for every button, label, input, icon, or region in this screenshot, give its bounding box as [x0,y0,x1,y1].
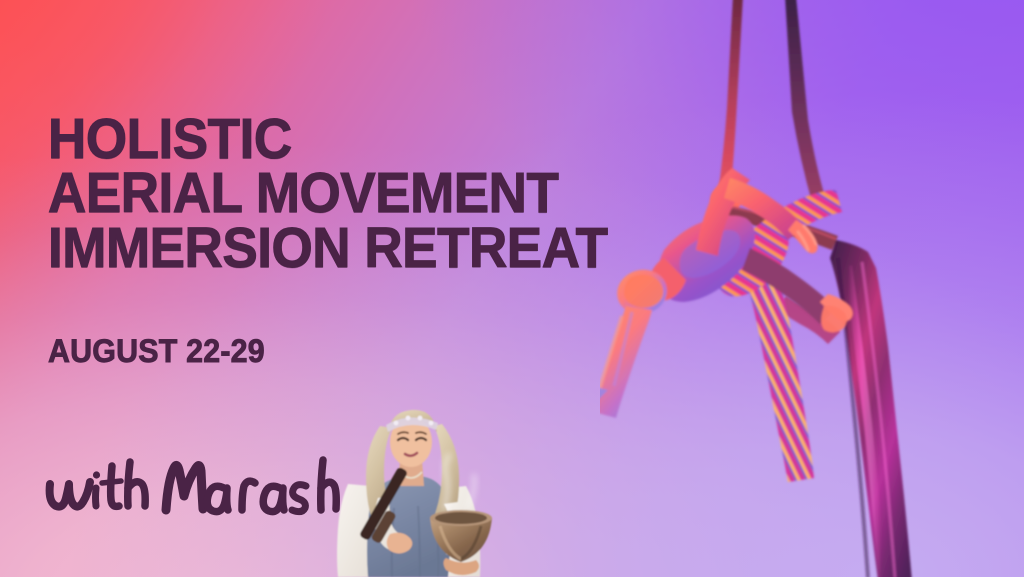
page-title: HOLISTIC AERIAL MOVEMENT IMMERSION RETRE… [48,112,650,275]
headline-line-1: HOLISTIC [48,112,607,166]
silk-rope-right [785,0,826,206]
event-date: AUGUST 22-29 [48,333,265,370]
singing-bowl-woman [318,398,530,577]
byline: with Marash [44,460,334,530]
silk-rope-left [718,0,743,196]
poster-canvas: HOLISTIC AERIAL MOVEMENT IMMERSION RETRE… [0,0,1024,577]
aerial-silk-performer [600,0,1024,577]
headline-line-3: IMMERSION RETREAT [48,221,607,275]
headline-line-2: AERIAL MOVEMENT [48,166,607,220]
